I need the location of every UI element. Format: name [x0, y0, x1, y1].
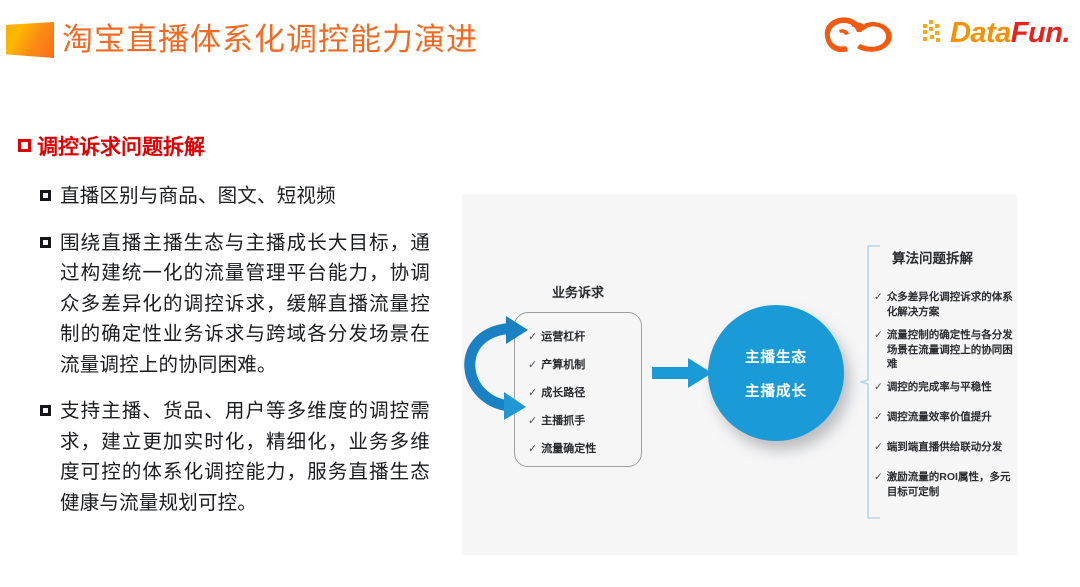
square-bullet-icon [40, 190, 51, 201]
curved-loop-arrow-icon [462, 314, 532, 424]
business-demand-item: ✓运营杠杆 [528, 328, 585, 344]
red-square-bullet-icon [18, 139, 31, 152]
square-bullet-icon [40, 405, 51, 416]
datafun-text-data: Data [950, 17, 1011, 49]
list-item: 围绕直播主播生态与主播成长大目标，通过构建统一化的流量管理平台能力，协调众多差异… [40, 229, 430, 382]
business-demand-item-label: 流量确定性 [541, 443, 596, 455]
business-demand-item: ✓成长路径 [528, 384, 585, 400]
business-demand-item: ✓流量确定性 [528, 440, 596, 456]
datafun-dots-icon [923, 20, 949, 46]
bullet-list: 直播区别与商品、图文、短视频 围绕直播主播生态与主播成长大目标，通过构建统一化的… [40, 182, 430, 535]
datafun-text-fun: Fun. [1011, 17, 1070, 49]
algorithm-breakdown-item: ✓调控的完成率与平稳性 [874, 380, 1016, 395]
business-demand-item-label: 产算机制 [541, 359, 585, 371]
business-demand-item: ✓产算机制 [528, 356, 585, 372]
business-demand-item: ✓主播抓手 [528, 412, 585, 428]
datafun-logo: DataFun. [923, 13, 1070, 53]
right-arrow-icon [652, 356, 714, 390]
slide-header: 淘宝直播体系化调控能力演进 Data [0, 0, 1080, 78]
business-demand-item-label: 主播抓手 [541, 415, 585, 427]
section-heading-label: 调控诉求问题拆解 [37, 132, 205, 162]
bullet-text: 围绕直播主播生态与主播成长大目标，通过构建统一化的流量管理平台能力，协调众多差异… [60, 229, 430, 382]
algorithm-breakdown-item: ✓众多差异化调控诉求的体系化解决方案 [874, 290, 1016, 319]
list-item: 支持主播、货品、用户等多维度的调控需求，建立更加实时化，精细化，业务多维度可控的… [40, 397, 430, 519]
algorithm-breakdown-item: ✓端到端直播供给联动分发 [874, 440, 1016, 455]
circle-line-2: 主播成长 [745, 380, 807, 401]
algorithm-breakdown-item-label: 流量控制的确定性与各分发场景在流量调控上的协同困难 [887, 328, 1016, 372]
circle-line-1: 主播生态 [745, 346, 807, 367]
algorithm-breakdown-title: 算法问题拆解 [892, 247, 1062, 267]
bullet-text: 支持主播、货品、用户等多维度的调控需求，建立更加实时化，精细化，业务多维度可控的… [60, 397, 430, 519]
diagram-panel: 业务诉求 ✓运营杠杆 ✓产算机制 ✓成长路径 ✓主播抓手 ✓流量确定性 [462, 194, 1017, 555]
check-icon: ✓ [874, 470, 883, 499]
check-icon: ✓ [874, 290, 883, 319]
algorithm-breakdown-item-label: 调控的完成率与平稳性 [887, 380, 992, 395]
business-demand-title: 业务诉求 [514, 282, 642, 301]
check-icon: ✓ [874, 328, 883, 372]
algorithm-breakdown-item-label: 激励流量的ROI属性，多元目标可定制 [887, 470, 1016, 499]
list-item: 直播区别与商品、图文、短视频 [40, 182, 430, 213]
anchor-ecosystem-circle: 主播生态 主播成长 [708, 305, 844, 441]
taobao-logo [817, 10, 901, 56]
bullet-text: 直播区别与商品、图文、短视频 [60, 182, 336, 213]
orange-accent-shape [6, 22, 54, 58]
check-icon: ✓ [874, 380, 883, 395]
business-demand-item-label: 运营杠杆 [541, 331, 585, 343]
section-heading: 调控诉求问题拆解 [18, 132, 205, 162]
algorithm-breakdown-item: ✓调控流量效率价值提升 [874, 410, 1016, 425]
check-icon: ✓ [528, 443, 537, 455]
algorithm-breakdown-item: ✓流量控制的确定性与各分发场景在流量调控上的协同困难 [874, 328, 1016, 372]
business-demand-item-label: 成长路径 [541, 387, 585, 399]
algorithm-breakdown-item-label: 众多差异化调控诉求的体系化解决方案 [887, 290, 1016, 319]
check-icon: ✓ [874, 440, 883, 455]
square-bullet-icon [40, 237, 51, 248]
algorithm-breakdown-item-label: 调控流量效率价值提升 [887, 410, 992, 425]
page-title: 淘宝直播体系化调控能力演进 [62, 16, 478, 64]
slide-root: 淘宝直播体系化调控能力演进 Data [0, 0, 1080, 587]
algorithm-breakdown-item-label: 端到端直播供给联动分发 [887, 440, 1003, 455]
algorithm-breakdown-item: ✓激励流量的ROI属性，多元目标可定制 [874, 470, 1016, 499]
logo-group: DataFun. [817, 6, 1070, 60]
check-icon: ✓ [874, 410, 883, 425]
